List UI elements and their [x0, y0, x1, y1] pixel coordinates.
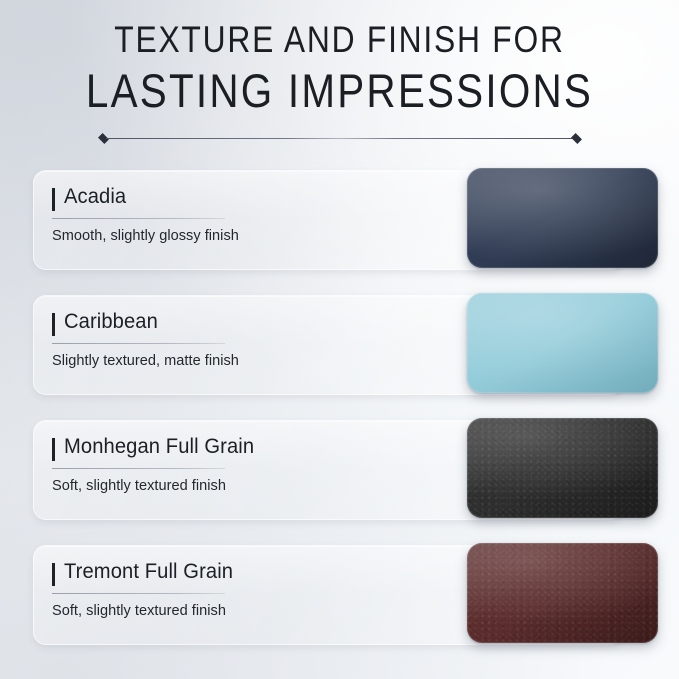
material-swatch[interactable] — [467, 543, 658, 643]
material-text-block: Monhegan Full GrainSoft, slightly textur… — [52, 435, 412, 494]
material-name-underline — [52, 343, 225, 344]
material-text-block: CaribbeanSlightly textured, matte finish — [52, 310, 412, 369]
material-name-row: Tremont Full Grain — [52, 560, 412, 590]
material-row[interactable]: AcadiaSmooth, slightly glossy finish — [0, 168, 679, 293]
material-text-block: AcadiaSmooth, slightly glossy finish — [52, 185, 412, 244]
material-name-row: Acadia — [52, 185, 412, 215]
material-name-underline — [52, 593, 225, 594]
page-title-line-1: TEXTURE AND FINISH FOR — [48, 16, 632, 63]
material-row[interactable]: Monhegan Full GrainSoft, slightly textur… — [0, 418, 679, 543]
infographic-root: TEXTURE AND FINISH FOR LASTING IMPRESSIO… — [0, 0, 679, 679]
diamond-divider-icon — [98, 132, 582, 146]
accent-bar-icon — [52, 438, 55, 461]
material-row[interactable]: CaribbeanSlightly textured, matte finish — [0, 293, 679, 418]
swatch-rim — [467, 293, 658, 393]
material-list: AcadiaSmooth, slightly glossy finishCari… — [0, 168, 679, 668]
accent-bar-icon — [52, 188, 55, 211]
material-row[interactable]: Tremont Full GrainSoft, slightly texture… — [0, 543, 679, 668]
material-swatch[interactable] — [467, 418, 658, 518]
accent-bar-icon — [52, 313, 55, 336]
divider-rule — [106, 138, 574, 139]
material-description: Soft, slightly textured finish — [52, 477, 401, 494]
material-name: Caribbean — [64, 310, 158, 334]
material-description: Smooth, slightly glossy finish — [52, 227, 401, 244]
diamond-right-icon — [571, 133, 582, 144]
swatch-rim — [467, 168, 658, 268]
swatch-rim — [467, 418, 658, 518]
material-name: Tremont Full Grain — [64, 560, 233, 584]
material-name-row: Caribbean — [52, 310, 412, 340]
swatch-rim — [467, 543, 658, 643]
material-name: Acadia — [64, 185, 126, 209]
accent-bar-icon — [52, 563, 55, 586]
material-name-underline — [52, 218, 225, 219]
material-name-row: Monhegan Full Grain — [52, 435, 412, 465]
material-name-underline — [52, 468, 225, 469]
material-swatch[interactable] — [467, 293, 658, 393]
material-description: Soft, slightly textured finish — [52, 602, 401, 619]
material-name: Monhegan Full Grain — [64, 435, 254, 459]
material-swatch[interactable] — [467, 168, 658, 268]
page-title-line-2: LASTING IMPRESSIONS — [48, 63, 632, 119]
material-text-block: Tremont Full GrainSoft, slightly texture… — [52, 560, 412, 619]
header: TEXTURE AND FINISH FOR LASTING IMPRESSIO… — [0, 16, 679, 119]
material-description: Slightly textured, matte finish — [52, 352, 401, 369]
